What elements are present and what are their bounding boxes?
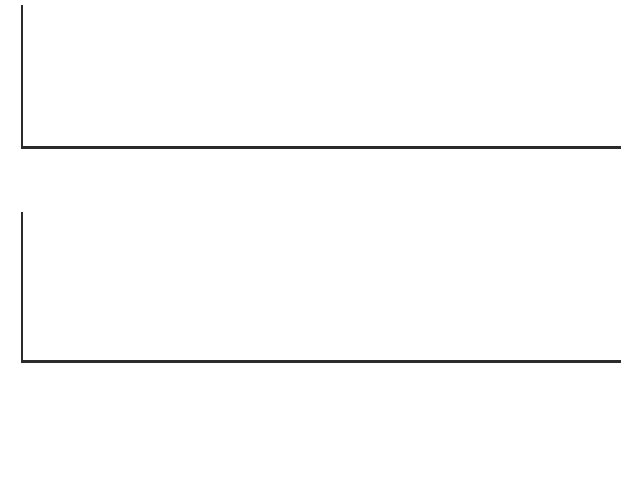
- bar-series-scanpath-length: [21, 5, 621, 146]
- x-tick-labels-top: [21, 150, 621, 168]
- bar-series-fixation-duration: [21, 212, 621, 360]
- x-axis-spine-top: [21, 146, 621, 149]
- x-tick-labels-bottom: [21, 364, 621, 382]
- plot-area-top: [21, 5, 621, 146]
- plot-area-bottom: [21, 212, 621, 360]
- figure-container: [0, 0, 640, 489]
- x-axis-spine-bottom: [21, 360, 621, 363]
